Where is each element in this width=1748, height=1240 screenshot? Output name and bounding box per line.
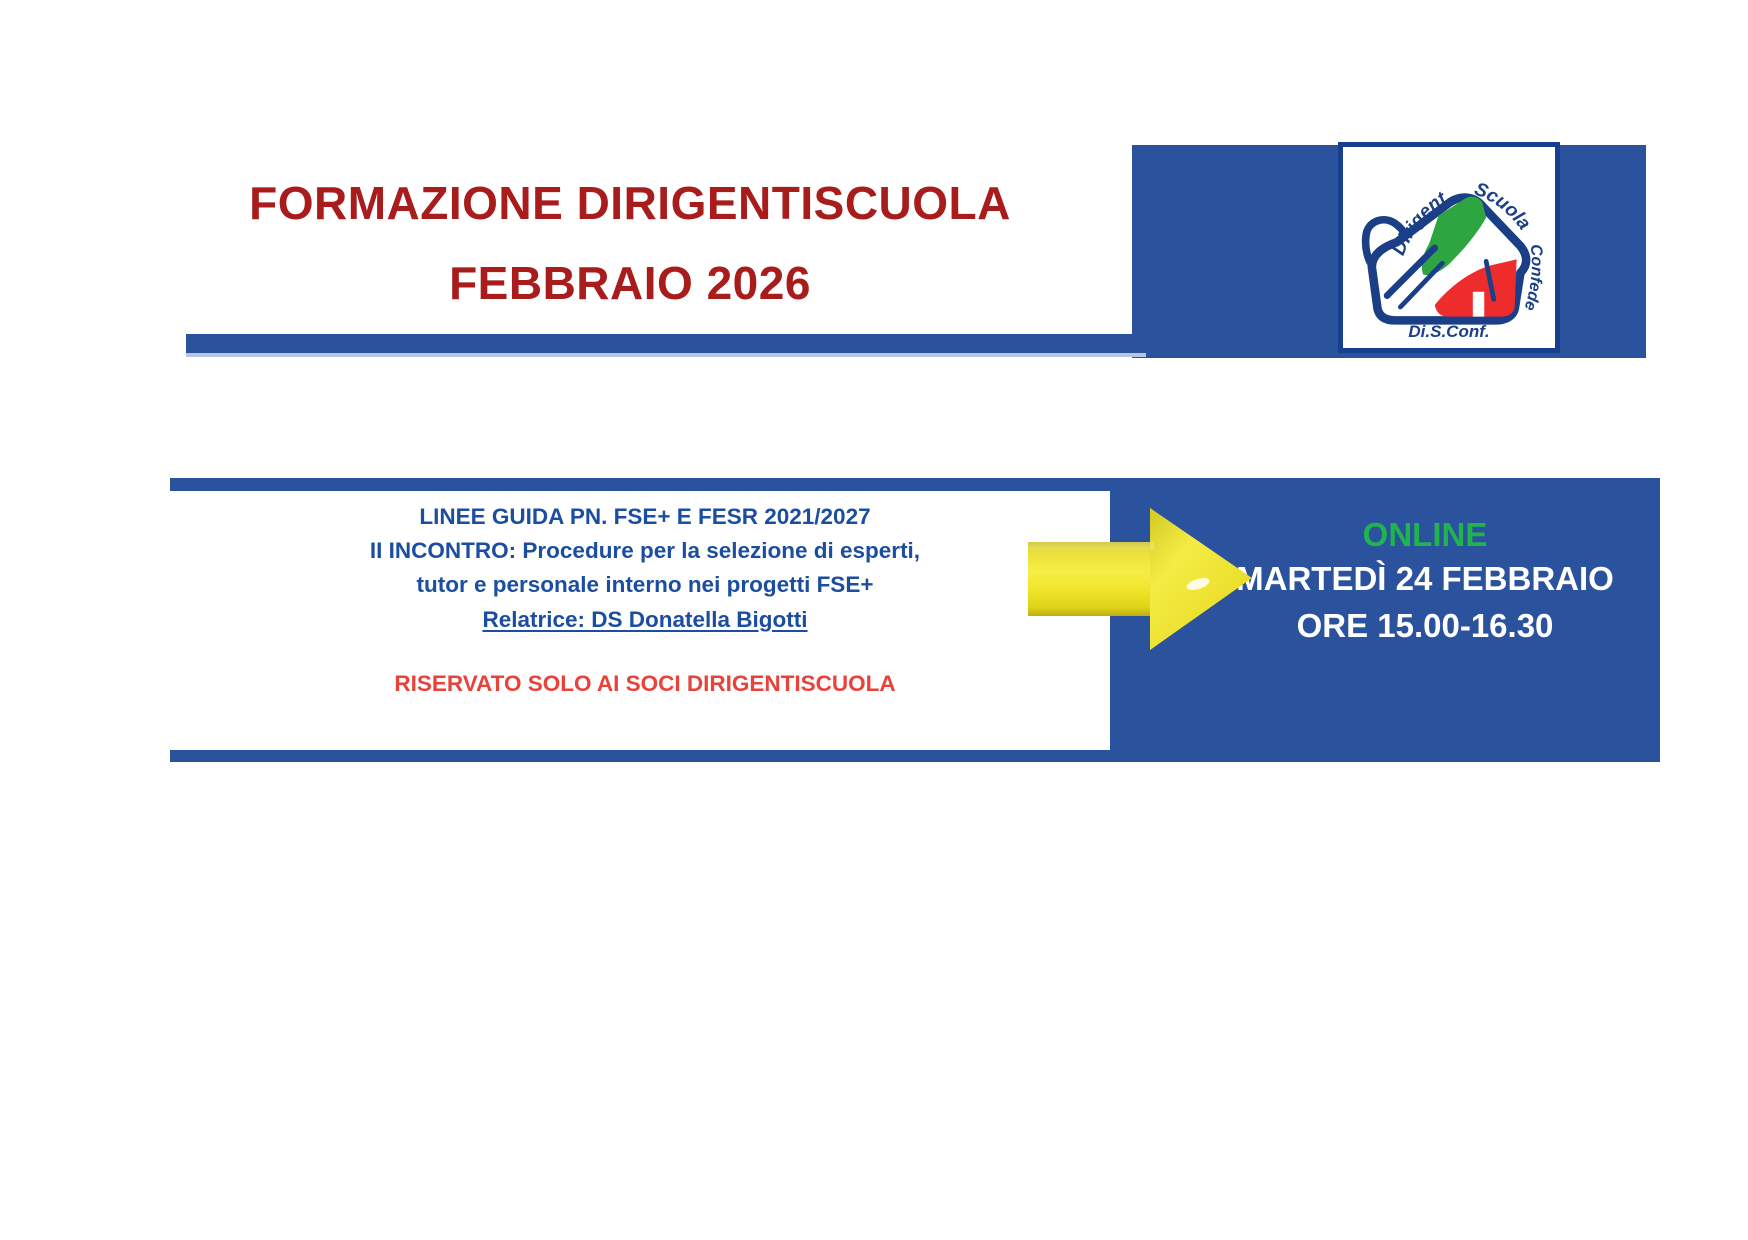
online-badge: ONLINE xyxy=(1190,514,1660,556)
right-arrow-icon xyxy=(1026,498,1256,658)
header-horizontal-rule-shadow xyxy=(186,353,1146,357)
title-line-2: FEBBRAIO 2026 xyxy=(150,255,1110,313)
title-line-1: FORMAZIONE DIRIGENTISCUOLA xyxy=(150,175,1110,233)
course-line-1: LINEE GUIDA PN. FSE+ E FESR 2021/2027 xyxy=(180,500,1110,534)
page-title: FORMAZIONE DIRIGENTISCUOLA FEBBRAIO 2026 xyxy=(150,175,1110,312)
header-banner: FORMAZIONE DIRIGENTISCUOLA FEBBRAIO 2026 xyxy=(0,0,1748,420)
panel-top-rule xyxy=(170,478,1110,491)
panel-bottom-rule xyxy=(170,750,1110,762)
event-details-panel: LINEE GUIDA PN. FSE+ E FESR 2021/2027 II… xyxy=(170,478,1660,762)
header-horizontal-rule xyxy=(186,334,1146,353)
course-line-3: tutor e personale interno nei progetti F… xyxy=(180,568,1110,602)
organization-logo: Dirigenti Scuola Confederati Di.S.Conf. xyxy=(1338,142,1560,353)
logo-caption: Di.S.Conf. xyxy=(1343,322,1555,342)
course-line-2: II INCONTRO: Procedure per la selezione … xyxy=(180,534,1110,568)
event-date: MARTEDÌ 24 FEBBRAIO xyxy=(1190,556,1660,603)
course-description: LINEE GUIDA PN. FSE+ E FESR 2021/2027 II… xyxy=(180,500,1110,701)
speaker-line: Relatrice: DS Donatella Bigotti xyxy=(180,603,1110,637)
logo-emblem-icon: Dirigenti Scuola Confederati xyxy=(1343,147,1555,348)
reserved-notice: RISERVATO SOLO AI SOCI DIRIGENTISCUOLA xyxy=(180,667,1110,701)
schedule-text: ONLINE MARTEDÌ 24 FEBBRAIO ORE 15.00-16.… xyxy=(1190,514,1660,650)
event-time: ORE 15.00-16.30 xyxy=(1190,603,1660,650)
